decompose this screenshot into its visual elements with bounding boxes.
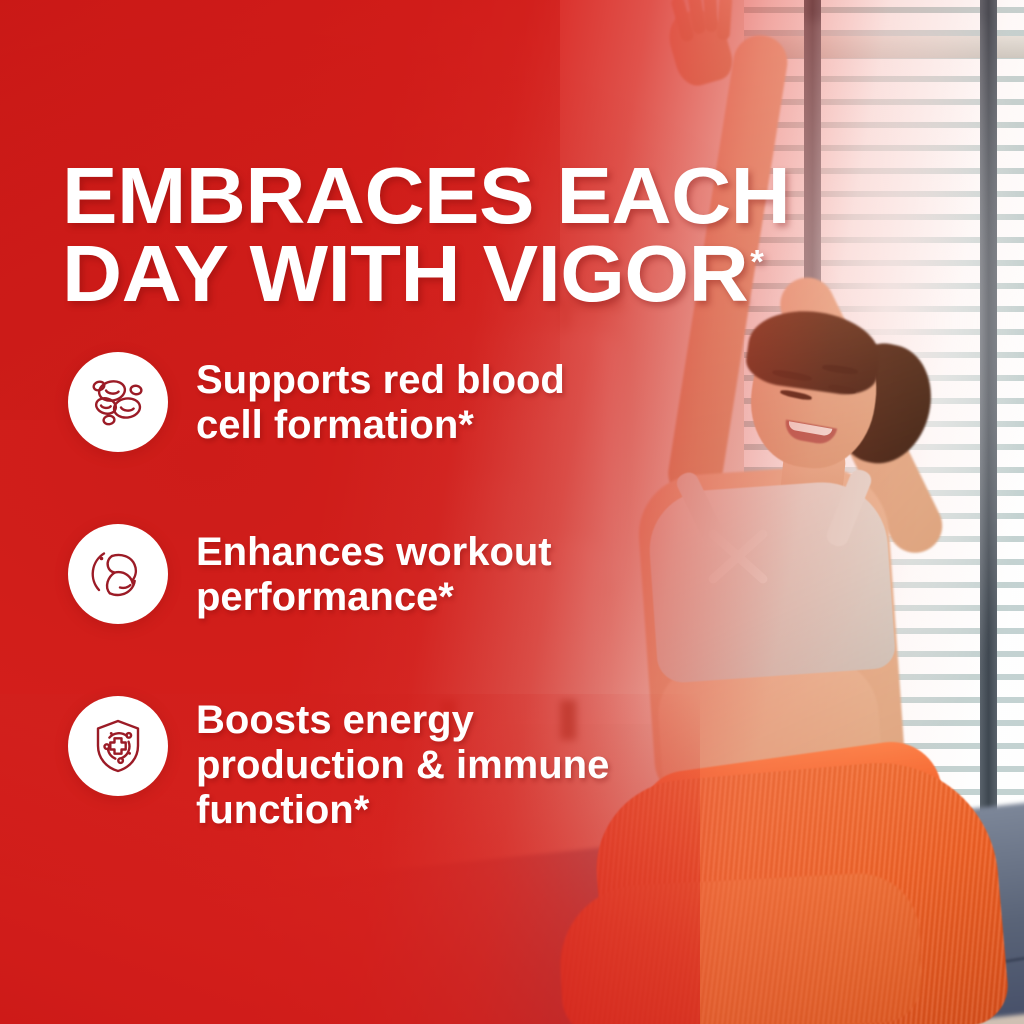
benefit-icon-badge <box>68 696 168 796</box>
headline-line-2: DAY WITH VIGOR* <box>62 235 998 313</box>
list-item: Supports red blood cell formation* <box>0 352 680 456</box>
overlay-content: EMBRACES EACH DAY WITH VIGOR* <box>0 0 1024 1024</box>
benefit-icon-badge <box>68 352 168 452</box>
headline-asterisk: * <box>750 244 763 281</box>
benefit-label: Supports red blood cell formation* <box>196 352 626 448</box>
headline-line-2-text: DAY WITH VIGOR <box>62 229 748 318</box>
red-blood-cells-icon <box>87 371 149 433</box>
page-title: EMBRACES EACH DAY WITH VIGOR* <box>62 157 998 314</box>
benefit-label: Enhances workout performance* <box>196 524 626 620</box>
list-item: Enhances workout performance* <box>0 524 680 628</box>
shield-medical-cross-icon <box>87 715 149 777</box>
headline-line-1: EMBRACES EACH <box>62 157 998 235</box>
list-item: Boosts energy production & immune functi… <box>0 696 680 832</box>
flexed-bicep-icon <box>87 543 149 605</box>
benefit-label: Boosts energy production & immune functi… <box>196 696 626 832</box>
promo-banner: EMBRACES EACH DAY WITH VIGOR* <box>0 0 1024 1024</box>
benefit-icon-badge <box>68 524 168 624</box>
benefits-list: Supports red blood cell formation* <box>0 352 680 832</box>
